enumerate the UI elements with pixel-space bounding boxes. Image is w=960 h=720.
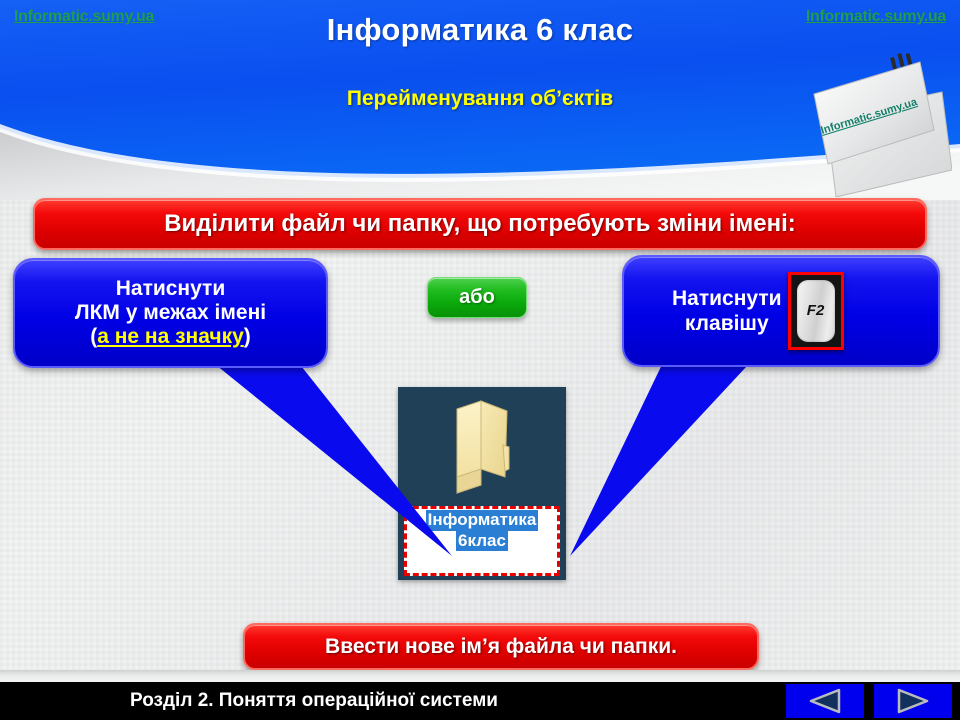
notebook-decoration-icon: Informatic.sumy.ua [792,52,952,197]
triangle-left-icon [808,688,842,714]
triangle-right-icon [896,688,930,714]
page-title: Інформатика 6 клас [0,12,960,48]
callout-right-key[interactable]: Натиснути клавішу F2 [622,255,940,367]
callout-left-line1: Натиснути [75,277,266,301]
slide-canvas: Informatic.sumy.ua Informatic.sumy.ua Ін… [0,0,960,720]
tail-right-callout [570,352,760,556]
slide-header: Informatic.sumy.ua Informatic.sumy.ua Ін… [0,0,960,200]
folder-name-line2: 6клас [456,531,508,552]
callout-left-line3: (а не на значку) [75,325,266,349]
callout-left-mouse[interactable]: Натиснути ЛКМ у межах імені (а не на зна… [13,258,328,368]
folder-name-line1: Інформатика [426,510,539,531]
f2-key-icon: F2 [797,280,835,342]
nav-prev-button[interactable] [786,684,864,718]
or-badge: або [427,277,527,318]
folder-name-editbox[interactable]: Інформатика 6клас [404,506,560,576]
callout-left-line2: ЛКМ у межах імені [75,301,266,325]
callout-right-line1: Натиснути [672,286,782,311]
paren-close: ) [244,325,251,348]
callout-right-line2: клавішу [672,311,782,336]
callout-left-highlight: а не на значку [97,325,244,348]
nav-next-button[interactable] [874,684,952,718]
footer-section-title: Розділ 2. Поняття операційної системи [130,690,498,712]
folder-screenshot: Інформатика 6клас [398,387,566,580]
footer-bar: Розділ 2. Поняття операційної системи [0,682,960,720]
footer-divider-strip [0,670,960,682]
open-folder-icon [443,393,521,498]
instruction-banner-top: Виділити файл чи папку, що потребують зм… [33,198,927,250]
instruction-banner-bottom: Ввести нове ім’я файла чи папки. [243,623,759,670]
f2-key-frame: F2 [788,272,844,350]
